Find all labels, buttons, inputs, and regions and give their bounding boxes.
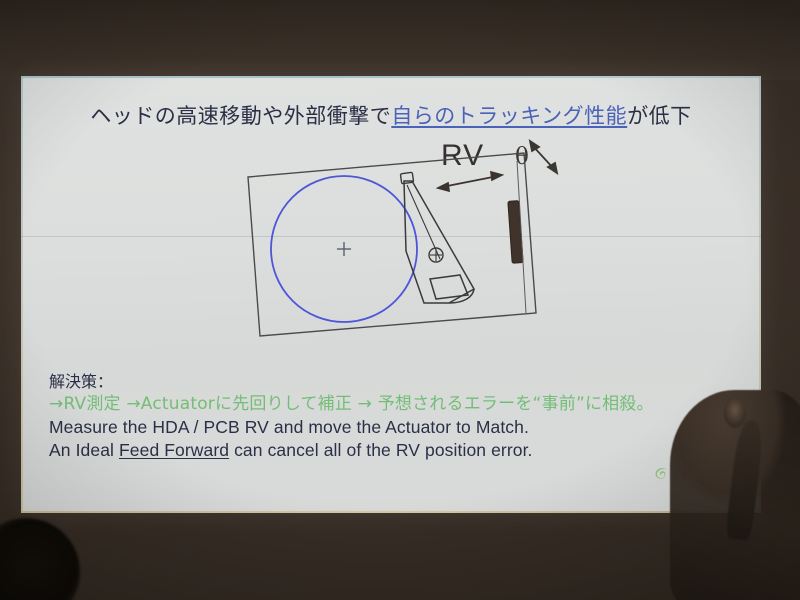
body-line-feed-forward-underlined: Feed Forward xyxy=(119,440,229,460)
projected-slide: ヘッドの高速移動や外部衝撃で自らのトラッキング性能が低下 RV θ xyxy=(21,76,761,513)
slide-title-part-before: ヘッドの高速移動や外部衝撃で xyxy=(90,104,391,128)
actuator-pivot xyxy=(429,248,443,262)
slide-body-text: 解決策： →RV測定 →Actuatorに先回りして補正 → 予想されるエラーを… xyxy=(49,370,741,462)
presenter-hand xyxy=(724,398,746,428)
hdd-diagram-svg xyxy=(236,131,566,361)
room-wall-upper-band xyxy=(0,0,800,80)
slide-title: ヘッドの高速移動や外部衝撃で自らのトラッキング性能が低下 xyxy=(21,100,761,130)
seagate-swirl-icon xyxy=(655,468,670,481)
body-line-solution-heading: 解決策： xyxy=(49,370,741,393)
slide-edge-top xyxy=(21,76,761,78)
slide-edge-bottom xyxy=(21,511,761,513)
read-write-head-slider xyxy=(400,172,413,184)
body-line-measure: Measure the HDA / PCB RV and move the Ac… xyxy=(49,416,741,439)
hdd-diagram xyxy=(236,131,566,361)
screenshot-root: ヘッドの高速移動や外部衝撃で自らのトラッキング性能が低下 RV θ xyxy=(0,0,800,600)
rotational-vibration-arrow xyxy=(530,141,557,173)
linear-shock-arrow xyxy=(438,172,502,191)
voice-coil xyxy=(430,275,468,299)
slide-title-part-after: が低下 xyxy=(627,104,692,128)
body-line-steps: →RV測定 →Actuatorに先回りして補正 → 予想されるエラーを“事前”に… xyxy=(49,393,741,416)
slide-edge-left xyxy=(21,76,23,513)
slide-title-highlight: 自らのトラッキング性能 xyxy=(391,104,627,128)
body-line-feed-forward-b: can cancel all of the RV position error. xyxy=(229,440,532,460)
body-line-feed-forward-a: An Ideal xyxy=(49,440,119,460)
spindle-center-cross xyxy=(337,242,351,256)
body-line-feed-forward: An Ideal Feed Forward can cancel all of … xyxy=(49,439,741,462)
